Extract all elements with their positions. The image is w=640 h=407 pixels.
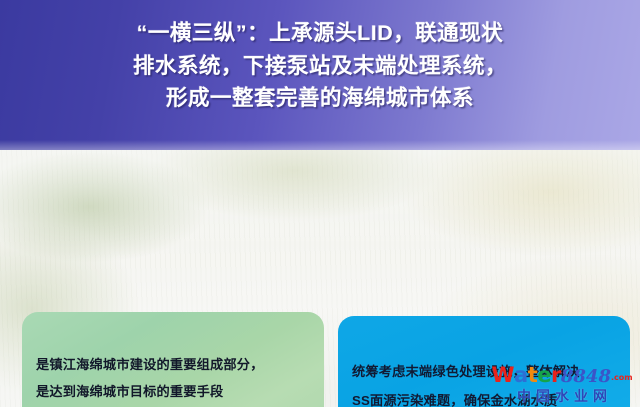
watermark-chinese-text: 中国水业网	[488, 389, 636, 403]
watermark-brand: Water8848.com	[488, 365, 636, 386]
slide-canvas: “一横三纵”：上承源头LID，联通现状 排水系统，下接泵站及末端处理系统， 形成…	[0, 0, 640, 407]
watermark-letter-3: t	[528, 365, 538, 386]
header-banner: “一横三纵”：上承源头LID，联通现状 排水系统，下接泵站及末端处理系统， 形成…	[0, 0, 640, 150]
content-card-top-left-text: 是镇江海绵城市建设的重要组成部分， 是达到海绵城市目标的重要手段	[36, 357, 264, 399]
watermark-number: 8848	[561, 368, 611, 386]
content-area: 是镇江海绵城市建设的重要组成部分， 是达到海绵城市目标的重要手段 与浅层排水系统…	[0, 150, 640, 407]
watermark-tld: .com	[611, 374, 633, 382]
watermark-letter-2: a	[514, 365, 528, 386]
watermark-letter-1: W	[491, 365, 514, 386]
watermark-letter-5: r	[551, 365, 561, 386]
page-title: “一横三纵”：上承源头LID，联通现状 排水系统，下接泵站及末端处理系统， 形成…	[28, 17, 612, 115]
watermark-logo: Water8848.com 中国水业网	[488, 365, 636, 403]
watermark-letter-4: e	[537, 365, 551, 386]
content-card-top-left: 是镇江海绵城市建设的重要组成部分， 是达到海绵城市目标的重要手段	[22, 312, 324, 407]
